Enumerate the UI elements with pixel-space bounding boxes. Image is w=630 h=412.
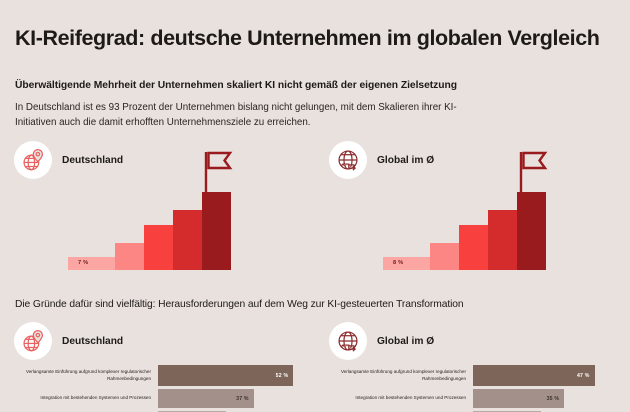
challenge-label: Integration mit bestehenden Systemen und… <box>14 395 158 401</box>
panel-label-global-2: Global im Ø <box>377 336 434 347</box>
challenge-value: 47 % <box>577 373 595 379</box>
globe-pin-icon <box>14 322 52 360</box>
challenge-value: 35 % <box>547 396 565 402</box>
intro-paragraph: In Deutschland ist es 93 Prozent der Unt… <box>15 100 475 130</box>
stair-step-2 <box>115 243 144 270</box>
globe-arrow-icon <box>329 141 367 179</box>
stair-step-5 <box>517 192 546 270</box>
challenge-bar-track: 52 % <box>158 365 310 386</box>
flag-icon <box>514 149 554 194</box>
section2-title: Die Gründe dafür sind vielfältig: Heraus… <box>15 299 464 310</box>
staircase-steps: 8 % <box>383 192 546 270</box>
globe-pin-icon <box>14 141 52 179</box>
stair-step-2 <box>430 243 459 270</box>
challenge-row: Verlangsamte Einführung aufgrund komplex… <box>329 365 625 386</box>
panel-header-global-2: Global im Ø <box>329 322 434 360</box>
challenge-bar: 35 % <box>473 389 564 408</box>
stair-step-4 <box>488 210 517 270</box>
stair-step-1: 8 % <box>383 257 430 270</box>
challenges-panel-global: Global im Ø Verlangsamte Einführung aufg… <box>315 320 630 412</box>
challenge-row: Verlangsamte Einführung aufgrund komplex… <box>14 365 310 386</box>
challenge-row: Integration mit bestehenden Systemen und… <box>14 389 310 408</box>
challenge-bar: 37 % <box>158 389 254 408</box>
challenges-bars-global: Verlangsamte Einführung aufgrund komplex… <box>329 365 625 412</box>
challenge-bar: 52 % <box>158 365 293 386</box>
challenge-bar-track: 37 % <box>158 389 310 408</box>
challenge-label: Integration mit bestehenden Systemen und… <box>329 395 473 401</box>
staircase-panel-global: Global im Ø 8 % <box>315 138 630 288</box>
challenge-label: Verlangsamte Einführung aufgrund komplex… <box>14 369 158 381</box>
stair-step-3 <box>144 225 173 270</box>
challenge-bar-track: 47 % <box>473 365 625 386</box>
challenge-bar-track: 35 % <box>473 389 625 408</box>
challenge-label: Verlangsamte Einführung aufgrund komplex… <box>329 369 473 381</box>
staircase-chart-global: 8 % <box>383 160 603 270</box>
globe-arrow-icon <box>329 322 367 360</box>
page-title: KI-Reifegrad: deutsche Unternehmen im gl… <box>15 26 600 51</box>
stair-step-3 <box>459 225 488 270</box>
flag-icon <box>199 149 239 194</box>
staircase-chart-deutschland: 7 % <box>68 160 288 270</box>
section-subtitle: Überwältigende Mehrheit der Unternehmen … <box>15 80 457 91</box>
staircase-panel-deutschland: Deutschland 7 % <box>0 138 315 288</box>
challenge-value: 52 % <box>276 373 294 379</box>
challenges-panel-deutschland: Deutschland Verlangsamte Einführung aufg… <box>0 320 315 412</box>
stair-step-5 <box>202 192 231 270</box>
stair-step-1-value: 8 % <box>393 260 403 266</box>
challenge-bar: 47 % <box>473 365 595 386</box>
panel-header-deutschland-2: Deutschland <box>14 322 123 360</box>
challenge-value: 37 % <box>236 396 254 402</box>
stair-step-1: 7 % <box>68 257 115 270</box>
panel-label-deutschland-2: Deutschland <box>62 336 123 347</box>
challenges-bars-deutschland: Verlangsamte Einführung aufgrund komplex… <box>14 365 310 412</box>
stair-step-1-value: 7 % <box>78 260 88 266</box>
infographic-page: KI-Reifegrad: deutsche Unternehmen im gl… <box>0 0 630 412</box>
staircase-steps: 7 % <box>68 192 231 270</box>
stair-step-4 <box>173 210 202 270</box>
challenge-row: Integration mit bestehenden Systemen und… <box>329 389 625 408</box>
